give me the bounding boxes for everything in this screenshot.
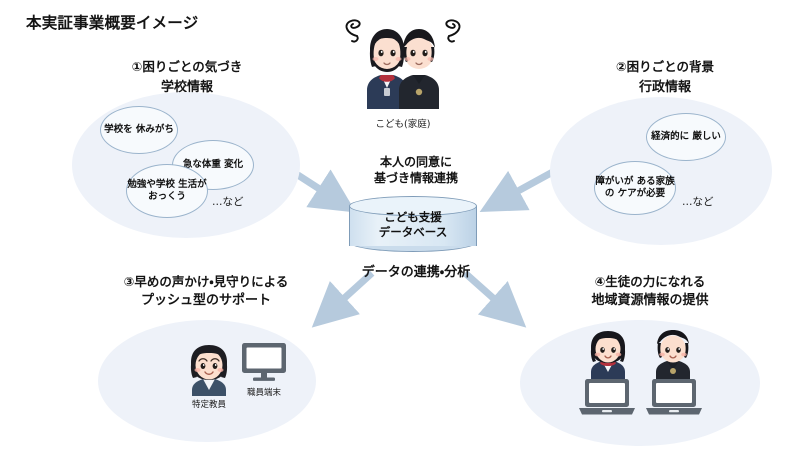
diagram-canvas: 本実証事業概要イメージ [0,0,797,468]
database-label: こども支援 データベース [349,210,477,240]
cluster-bottom-right-sub-heading: 地域資源情報の提供 [540,293,760,310]
cluster-bottom-left-sub-heading: プッシュ型のサポート [86,293,326,310]
page-title: 本実証事業概要イメージ [26,11,198,33]
student-boy-figure [648,326,698,380]
cluster-top-right-sub-heading: 行政情報 [565,80,765,97]
bubble-family-care: 障がいが ある家族の ケアが必要 [594,161,676,215]
student-laptop-icon-left [578,378,636,416]
arrow-db-to-support [318,273,372,322]
child-support-database-cylinder: こども支援 データベース [349,200,477,252]
student-laptop-icon-right [645,378,703,416]
worry-squiggle-right-icon [446,20,459,41]
data-linkage-analysis-text: データの連携・分析 [331,261,501,280]
ellipse-local-resources [520,320,760,446]
bubble-school-absence: 学校を 休みがち [100,106,178,154]
teacher-caption: 特定教員 [178,398,240,410]
arrow-admin-to-db [487,168,560,208]
bubble-economic-hardship: 経済的に 厳しい [646,113,726,161]
cluster-bottom-left-number-heading: ③早めの声かけ・見守りによる [86,274,326,290]
etc-label-administrative: …など [682,194,714,209]
children-family-illustration [337,14,469,114]
student-girl-figure [583,326,633,380]
worry-squiggle-left-icon [346,20,359,41]
consent-information-sharing-text: 本人の同意に 基づき情報連携 [336,155,496,186]
staff-terminal-caption: 職員端末 [234,386,294,398]
cluster-top-right-number-heading: ②困りごとの背景 [565,59,765,75]
child-boy-figure [399,29,439,109]
cluster-bottom-right-number-heading: ④生徒の力になれる [540,274,760,290]
arrow-db-to-resources [465,273,520,322]
children-family-caption: こども(家庭) [337,116,469,130]
bubble-study-reluctance: 勉強や学校 生活が おっくう [126,164,208,218]
cluster-top-left-number-heading: ①困りごとの気づき [92,59,282,75]
teacher-figure [183,340,235,396]
staff-terminal-monitor-icon [240,342,288,384]
etc-label-school: …など [212,194,244,209]
